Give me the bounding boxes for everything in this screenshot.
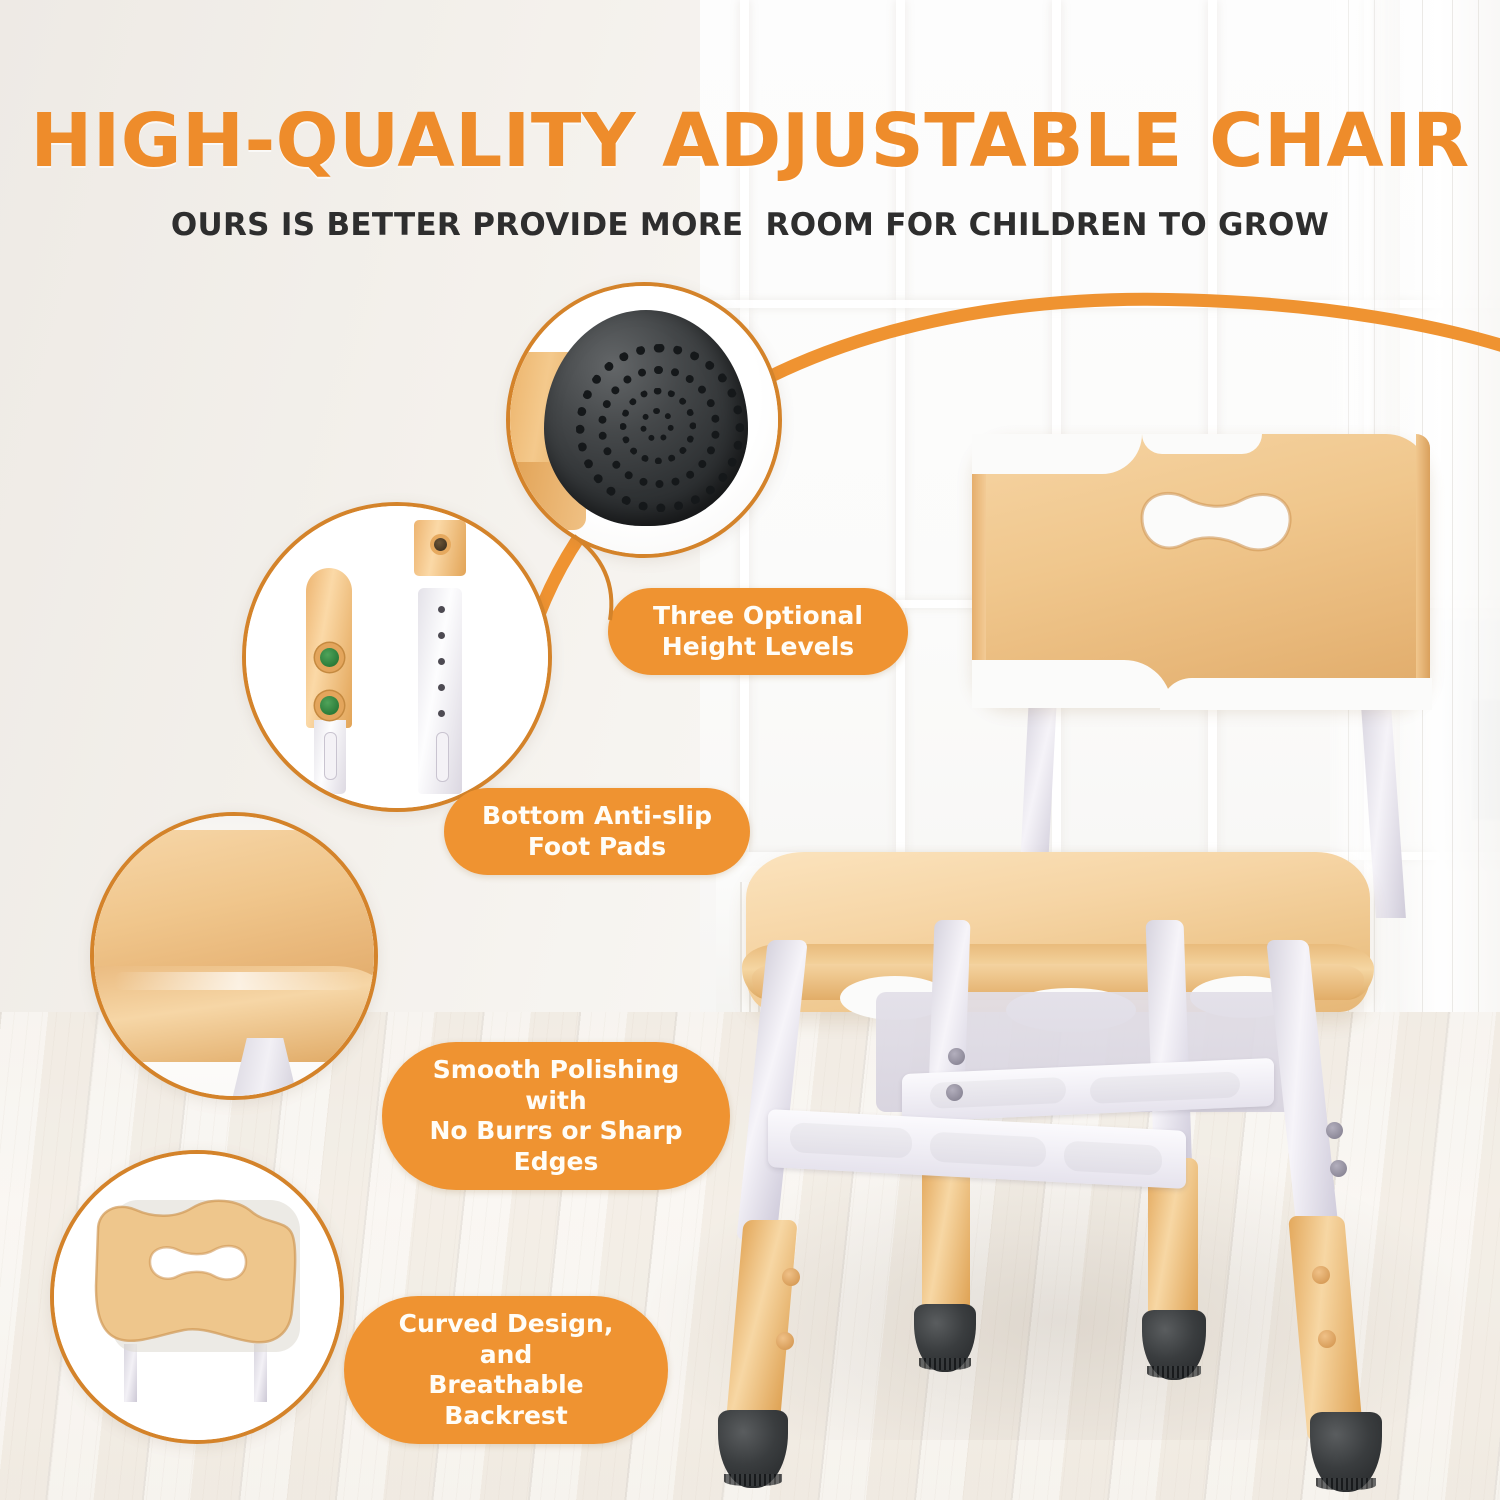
inset-curved-backrest xyxy=(50,1150,344,1444)
chair-cross-brace-front xyxy=(768,1109,1186,1189)
backrest-plate-shape xyxy=(88,1190,304,1362)
backrest-bone-cutout xyxy=(1120,472,1310,582)
chair-foot-pad-rear-left xyxy=(914,1304,976,1372)
product-infographic: Three Optional Height Levels Bottom Anti… xyxy=(0,0,1500,1500)
chair-foot-pad-front-left xyxy=(718,1410,788,1488)
feature-pill-smooth-polishing[interactable]: Smooth Polishing with No Burrs or Sharp … xyxy=(382,1042,730,1190)
height-lock-button-upper xyxy=(320,648,339,667)
page-title: HIGH-QUALITY ADJUSTABLE CHAIR xyxy=(0,98,1500,184)
foot-pad-dimples xyxy=(576,344,726,494)
feature-pill-curved-backrest[interactable]: Curved Design, and Breathable Backrest xyxy=(344,1296,668,1444)
inset-height-adjustment xyxy=(242,502,552,812)
chair-foot-pad-front-right xyxy=(1310,1412,1382,1492)
feature-pill-height-levels[interactable]: Three Optional Height Levels xyxy=(608,588,908,675)
page-subtitle: OURS IS BETTER PROVIDE MORE ROOM FOR CHI… xyxy=(0,207,1500,243)
main-chair-photo xyxy=(690,420,1480,1490)
chair-foot-pad-rear-right xyxy=(1142,1310,1206,1380)
feature-pill-foot-pads[interactable]: Bottom Anti-slip Foot Pads xyxy=(444,788,750,875)
height-lock-button-lower xyxy=(320,696,339,715)
inset-smooth-polished-edge xyxy=(90,812,378,1100)
